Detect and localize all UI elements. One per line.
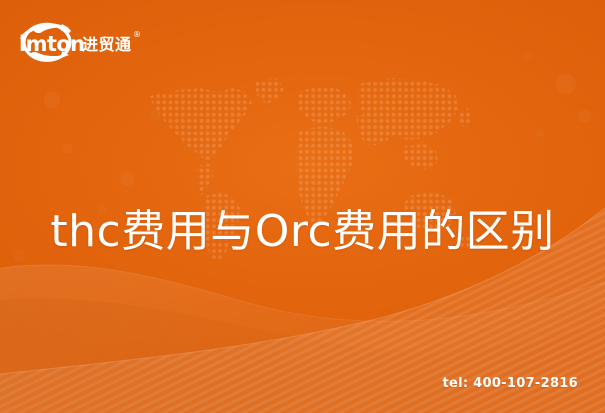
brand-logo-icon: imton 进贸通 imton 进贸通 ® [16, 18, 142, 66]
promo-banner: imton 进贸通 imton 进贸通 ® thc费用与Or [0, 0, 605, 413]
brand-logo[interactable]: imton 进贸通 imton 进贸通 ® [16, 18, 142, 66]
logo-wordmark: imton [19, 32, 85, 56]
registered-trademark-icon: ® [133, 30, 141, 39]
page-title: thc费用与Orc费用的区别 [0, 201, 605, 263]
logo-chinese-name: 进贸通 [82, 35, 132, 54]
footer-contact-phone: tel: 400-107-2816 [442, 376, 578, 391]
